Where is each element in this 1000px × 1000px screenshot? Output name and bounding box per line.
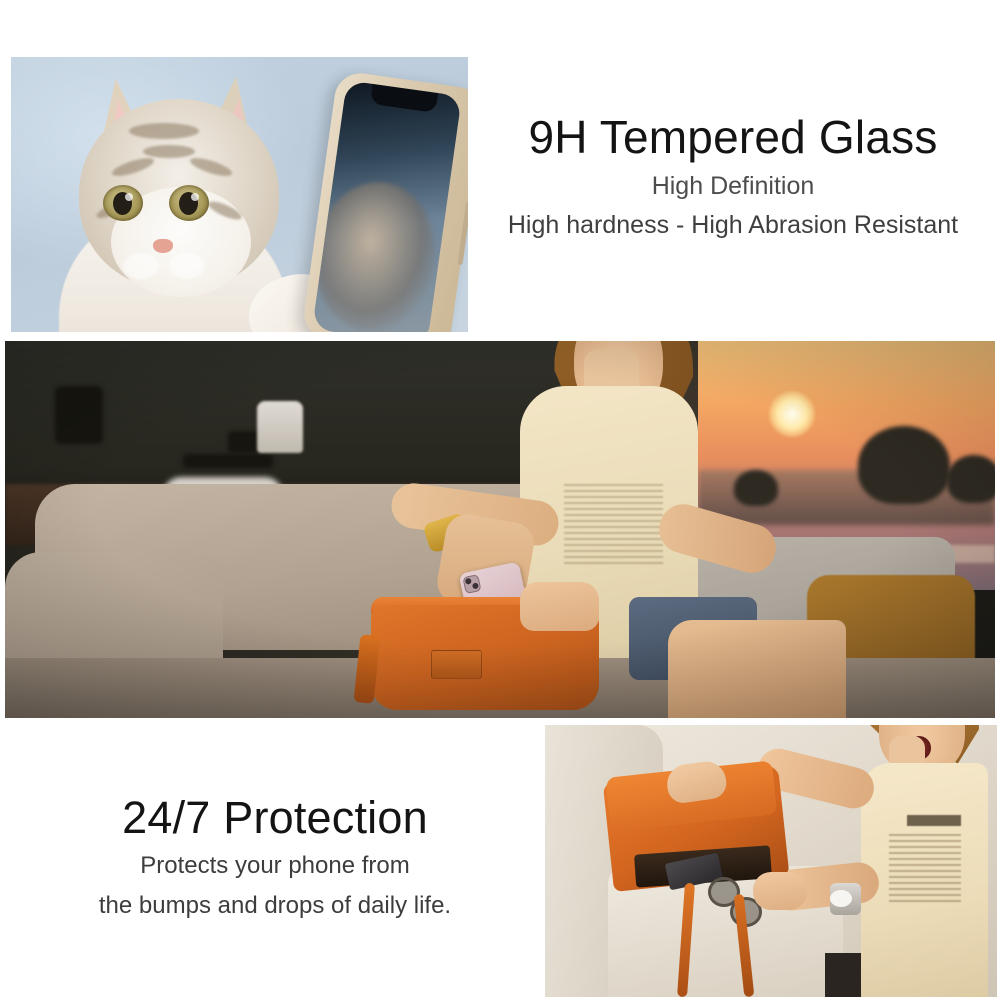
cat-muzzle-right bbox=[169, 253, 205, 279]
iphone-camera-module bbox=[463, 574, 482, 594]
tree bbox=[858, 426, 950, 504]
shelf-object bbox=[55, 386, 103, 444]
shelf-object bbox=[183, 454, 273, 468]
camera-lens bbox=[472, 583, 479, 590]
cat-nose bbox=[153, 239, 173, 253]
tempered-glass-headline: 9H Tempered Glass bbox=[478, 108, 988, 166]
cat-stripe bbox=[143, 145, 195, 158]
iphone-notch bbox=[370, 84, 438, 113]
cat-left-eye bbox=[103, 185, 143, 221]
bag-logo-tag bbox=[431, 650, 483, 678]
woman-hand bbox=[520, 582, 599, 631]
cat-right-eye bbox=[169, 185, 209, 221]
tempered-glass-text-block: 9H Tempered Glass High Definition High h… bbox=[478, 108, 988, 244]
tank-top-print bbox=[889, 834, 961, 905]
table-lamp bbox=[257, 401, 303, 453]
screen-cat-reflection bbox=[312, 174, 444, 332]
protection-subline-1: Protects your phone from bbox=[40, 846, 510, 886]
woman-lower-hand bbox=[753, 872, 807, 910]
tree bbox=[947, 455, 995, 503]
cat-touching-phone-photo bbox=[11, 57, 468, 332]
woman-legs bbox=[668, 620, 846, 718]
tempered-glass-subline-2: High hardness - High Abrasion Resistant bbox=[478, 206, 988, 244]
woman-dropping-bag-photo bbox=[545, 725, 997, 997]
tree bbox=[734, 470, 778, 506]
cat-stripe bbox=[129, 123, 199, 139]
camera-lens bbox=[465, 578, 472, 585]
tempered-glass-subline-1: High Definition bbox=[478, 166, 988, 206]
wristwatch bbox=[830, 883, 862, 916]
cat-muzzle-left bbox=[123, 253, 159, 279]
protection-headline: 24/7 Protection bbox=[40, 790, 510, 846]
protection-text-block: 24/7 Protection Protects your phone from… bbox=[40, 790, 510, 926]
tank-top-print bbox=[564, 484, 663, 567]
woman-putting-phone-in-bag-photo bbox=[5, 341, 995, 718]
cat-left-eye-highlight bbox=[125, 193, 133, 201]
tank-top-brand-text bbox=[907, 815, 961, 826]
product-feature-page: 9H Tempered Glass High Definition High h… bbox=[0, 0, 1000, 1000]
watch-face bbox=[830, 890, 852, 907]
iphone-screen bbox=[312, 80, 462, 332]
protection-subline-2: the bumps and drops of daily life. bbox=[40, 886, 510, 926]
cat-right-eye-highlight bbox=[191, 193, 199, 201]
sun bbox=[769, 391, 815, 437]
